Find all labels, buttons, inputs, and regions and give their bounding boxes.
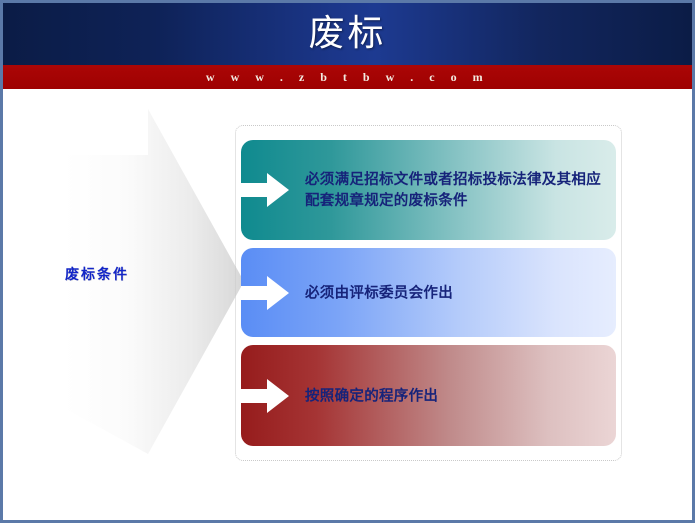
- right-arrow-icon: [241, 376, 289, 416]
- header-banner: 废标: [3, 3, 692, 65]
- right-arrow-icon: [241, 170, 289, 210]
- content-box-1-text: 必须满足招标文件或者招标投标法律及其相应配套规章规定的废标条件: [305, 169, 602, 211]
- website-url-strip: w w w . z b t b w . c o m: [3, 65, 692, 89]
- big-arrow-label: 废标条件: [22, 264, 172, 284]
- content-box-1[interactable]: 必须满足招标文件或者招标投标法律及其相应配套规章规定的废标条件: [241, 140, 616, 240]
- website-url-text: w w w . z b t b w . c o m: [3, 65, 692, 89]
- content-box-2[interactable]: 必须由评标委员会作出: [241, 248, 616, 337]
- slide-body: 废标条件 必须满足招标文件或者招标投标法律及其相应配套规章规定的废标条件 必须由…: [3, 89, 692, 520]
- content-box-3[interactable]: 按照确定的程序作出: [241, 345, 616, 446]
- big-arrow-shape: 废标条件: [16, 109, 244, 454]
- content-box-3-text: 按照确定的程序作出: [305, 385, 604, 406]
- content-box-2-text: 必须由评标委员会作出: [305, 282, 604, 303]
- right-arrow-icon: [241, 273, 289, 313]
- page-title: 废标: [3, 3, 692, 65]
- slide-canvas: 废标 w w w . z b t b w . c o m 废标条件: [0, 0, 695, 523]
